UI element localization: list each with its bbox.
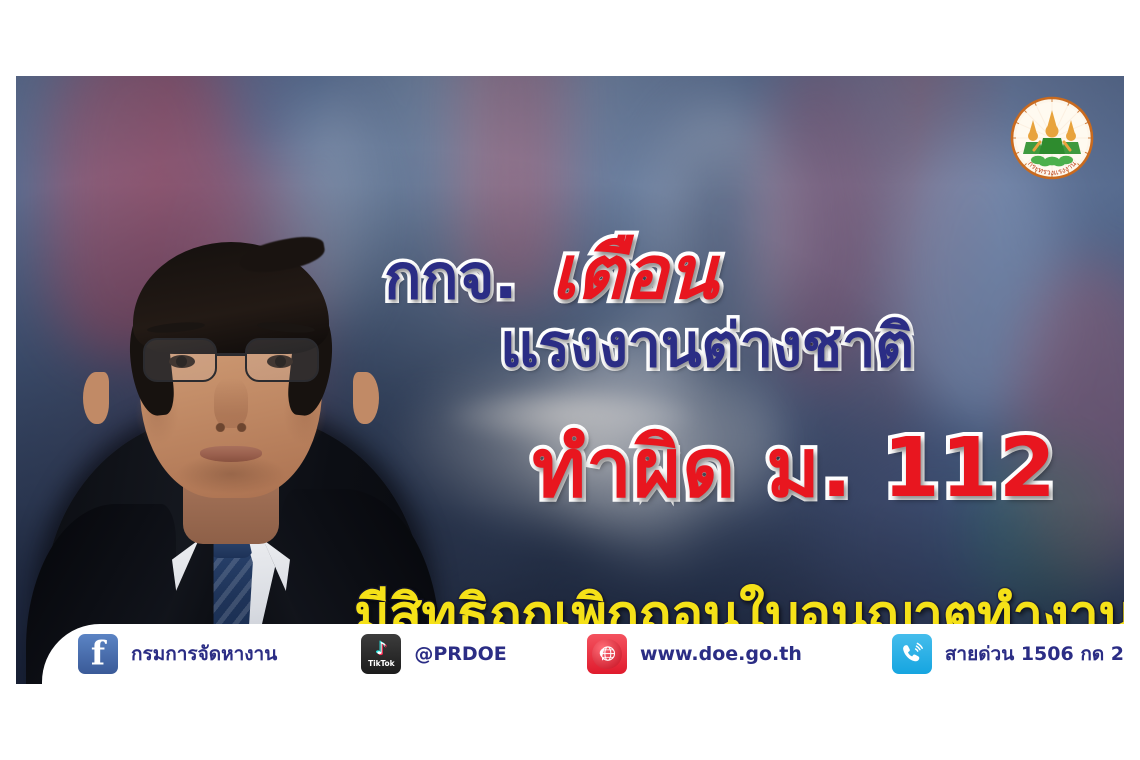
ear-left (83, 372, 109, 424)
lens-left (143, 338, 217, 382)
globe-glyph (592, 639, 622, 669)
ear-right (353, 372, 379, 424)
glasses-bridge (217, 353, 245, 356)
website-globe-icon[interactable] (587, 634, 627, 674)
footer-item-hotline[interactable]: สายด่วน 1506 กด 2 (892, 634, 1124, 674)
hotline-label: สายด่วน 1506 กด 2 (945, 639, 1124, 669)
tiktok-note-glyph: ♪ (376, 641, 387, 658)
facebook-label: กรมการจัดหางาน (131, 639, 277, 669)
headline-agency-label: กกจ. (384, 246, 517, 308)
headline-line-3-offence: ทำผิด ม. 112 (532, 428, 1057, 510)
nostrils (212, 423, 250, 432)
tiktok-wordmark: TikTok (368, 659, 394, 668)
contact-footer-bar: กรมการจัดหางาน ♪ TikTok @PRDOE (42, 624, 1124, 684)
footer-item-website[interactable]: www.doe.go.th (587, 634, 802, 674)
website-label: www.doe.go.th (640, 643, 802, 665)
nose (214, 378, 248, 428)
announcement-poster: กกจ. เตือน แรงงานต่างชาติ ทำผิด ม. 112 ม… (16, 76, 1124, 684)
phone-hotline-icon[interactable] (892, 634, 932, 674)
headline-line-1: กกจ. เตือน (384, 236, 717, 310)
footer-item-tiktok[interactable]: ♪ TikTok @PRDOE (361, 634, 506, 674)
poster-canvas: กกจ. เตือน แรงงานต่างชาติ ทำผิด ม. 112 ม… (0, 0, 1140, 760)
tiktok-label: @PRDOE (414, 643, 506, 665)
facebook-icon[interactable] (78, 634, 118, 674)
footer-item-facebook[interactable]: กรมการจัดหางาน (78, 634, 277, 674)
headline-line-2: แรงงานต่างชาติ (500, 316, 914, 376)
tiktok-icon[interactable]: ♪ TikTok (361, 634, 401, 674)
headline-warning-word: เตือน (551, 236, 717, 310)
chin-shadow (176, 454, 286, 494)
lens-right (245, 338, 319, 382)
ministry-of-labour-emblem-icon: กระทรวงแรงงาน (1000, 90, 1104, 194)
